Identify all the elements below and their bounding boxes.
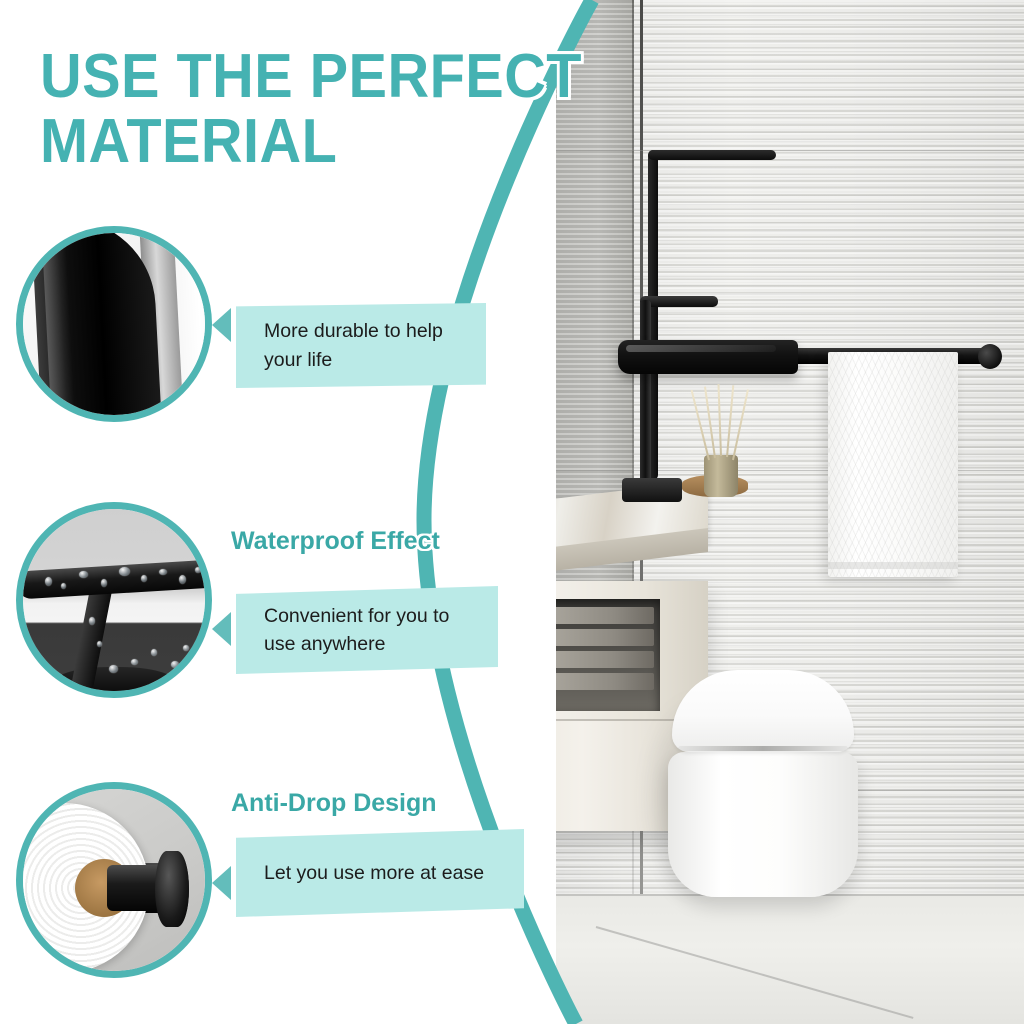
page-title: USE THE PERFECT MATERIAL <box>40 44 672 174</box>
towel-bar-endcap <box>978 344 1002 369</box>
wall-hung-toilet <box>664 670 862 920</box>
pointer-arrow-icon <box>212 308 231 342</box>
pointer-arrow-icon <box>212 612 231 646</box>
toilet-bowl <box>668 752 858 897</box>
towel-bar-mount <box>618 340 798 374</box>
callout-waterproof: Convenient for you to use anywhere <box>236 586 498 674</box>
folded-towel-stack <box>556 607 654 703</box>
reed-diffuser-jar <box>704 455 738 497</box>
infographic-canvas: USE THE PERFECT MATERIAL More durable to… <box>0 0 1024 1024</box>
pointer-arrow-icon <box>212 866 231 900</box>
thumb-toilet-paper-roll-on-knob <box>16 782 212 978</box>
feature-heading-waterproof: Waterproof Effect <box>231 527 440 556</box>
thumb-water-droplets-on-towel-bar <box>16 502 212 698</box>
faucet-base <box>622 478 682 502</box>
towel-bar-assembly <box>618 338 1008 398</box>
callout-anti-drop: Let you use more at ease <box>236 829 524 917</box>
toilet-lid <box>672 670 854 752</box>
thumb-coated-layers-cross-section <box>16 226 212 422</box>
hanging-towel <box>828 352 958 577</box>
faucet-stem <box>640 300 651 500</box>
feature-heading-anti-drop: Anti-Drop Design <box>231 789 437 818</box>
faucet-spout <box>640 296 718 307</box>
callout-durability: More durable to help your life <box>236 303 486 388</box>
